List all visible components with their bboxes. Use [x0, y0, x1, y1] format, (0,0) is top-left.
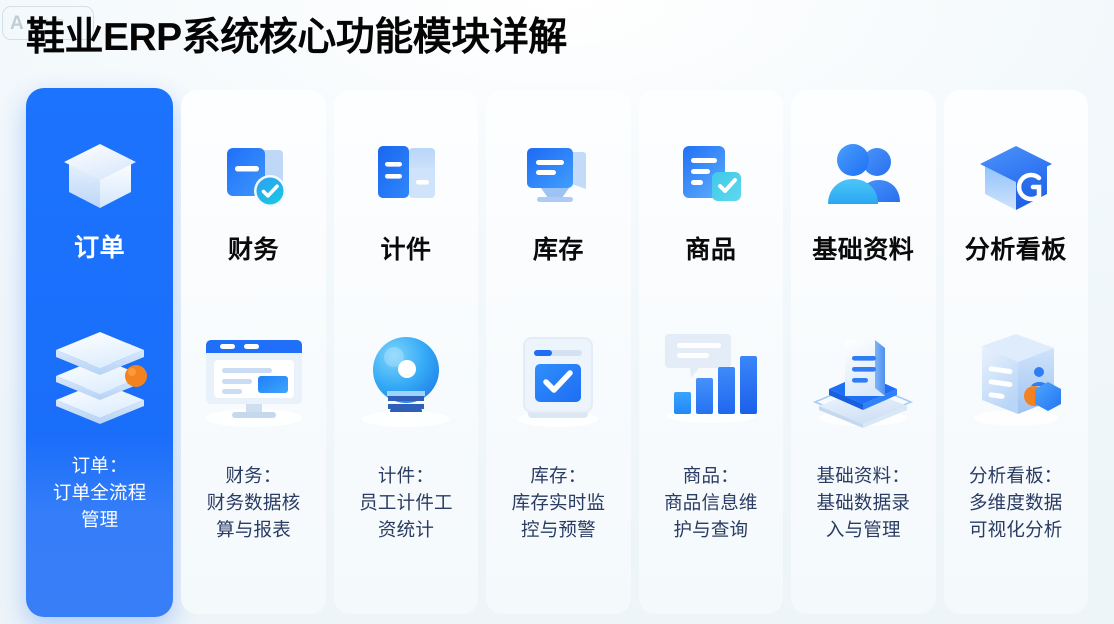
cube-g-icon [973, 136, 1059, 216]
module-description-line: 计件： [344, 462, 468, 489]
module-title-analytics: 分析看板 [965, 230, 1067, 266]
cube-box-icon [57, 134, 143, 214]
module-description-line: 财务数据核 [191, 489, 315, 516]
lightbulb-icon [350, 322, 462, 430]
module-card-inventory[interactable]: 库存 库存：库存实时监控与预警 [486, 90, 630, 614]
module-card-finance[interactable]: 财务 财务：财务数据核算与报表 [181, 90, 325, 614]
module-description-line: 商品： [649, 462, 773, 489]
module-description-piecework: 计件：员工计件工资统计 [334, 462, 478, 543]
bar-chart-bubble-icon [655, 322, 767, 430]
module-description-line: 护与查询 [649, 516, 773, 543]
module-card-basic-data[interactable]: 基础资料 基础资料：基础数据录入与管理 [791, 90, 935, 614]
device-check-icon [502, 322, 614, 430]
module-description-line: 控与预警 [496, 516, 620, 543]
module-title-order: 订单 [74, 228, 125, 264]
two-panel-document-icon [363, 136, 449, 216]
page-title: 鞋业ERP系统核心功能模块详解 [26, 14, 567, 62]
module-description-line: 管理 [36, 506, 163, 533]
document-pedestal-icon [807, 322, 919, 430]
module-description-order: 订单：订单全流程管理 [26, 452, 173, 533]
module-description-line: 订单： [36, 452, 163, 479]
module-description-line: 财务： [191, 462, 315, 489]
document-teal-check-icon [668, 136, 754, 216]
module-description-line: 可视化分析 [954, 516, 1078, 543]
open-box-document-icon [960, 322, 1072, 430]
module-description-line: 库存： [496, 462, 620, 489]
module-description-line: 资统计 [344, 516, 468, 543]
module-description-basic-data: 基础资料：基础数据录入与管理 [791, 462, 935, 543]
document-check-icon [211, 136, 297, 216]
module-description-line: 库存实时监 [496, 489, 620, 516]
module-description-line: 员工计件工 [344, 489, 468, 516]
module-description-finance: 财务：财务数据核算与报表 [181, 462, 325, 543]
module-description-line: 订单全流程 [36, 479, 163, 506]
screen-lines-icon [515, 136, 601, 216]
module-title-inventory: 库存 [533, 230, 584, 266]
module-description-line: 基础资料： [801, 462, 925, 489]
stacked-layers-icon [44, 316, 156, 424]
module-description-line: 入与管理 [801, 516, 925, 543]
module-title-finance: 财务 [228, 230, 279, 266]
module-title-piecework: 计件 [380, 230, 431, 266]
module-title-product: 商品 [685, 230, 736, 266]
module-card-product[interactable]: 商品 商品：商品信息维护与查询 [639, 90, 783, 614]
module-description-line: 基础数据录 [801, 489, 925, 516]
module-card-analytics[interactable]: 分析看板 分析看板：多维度数据可视化分析 [944, 90, 1088, 614]
module-card-piecework[interactable]: 计件 计件：员工计件工资统计 [334, 90, 478, 614]
two-people-icon [820, 136, 906, 216]
module-description-analytics: 分析看板：多维度数据可视化分析 [944, 462, 1088, 543]
module-description-line: 商品信息维 [649, 489, 773, 516]
module-description-line: 多维度数据 [954, 489, 1078, 516]
module-title-basic-data: 基础资料 [812, 230, 914, 266]
module-description-inventory: 库存：库存实时监控与预警 [486, 462, 630, 543]
module-description-line: 算与报表 [191, 516, 315, 543]
module-card-row: 订单 订单：订单全流程管理 [0, 90, 1114, 624]
module-description-line: 分析看板： [954, 462, 1078, 489]
module-description-product: 商品：商品信息维护与查询 [639, 462, 783, 543]
monitor-dashboard-icon [198, 322, 310, 430]
module-card-order[interactable]: 订单 订单：订单全流程管理 [26, 88, 173, 617]
watermark-label: A [10, 14, 24, 33]
